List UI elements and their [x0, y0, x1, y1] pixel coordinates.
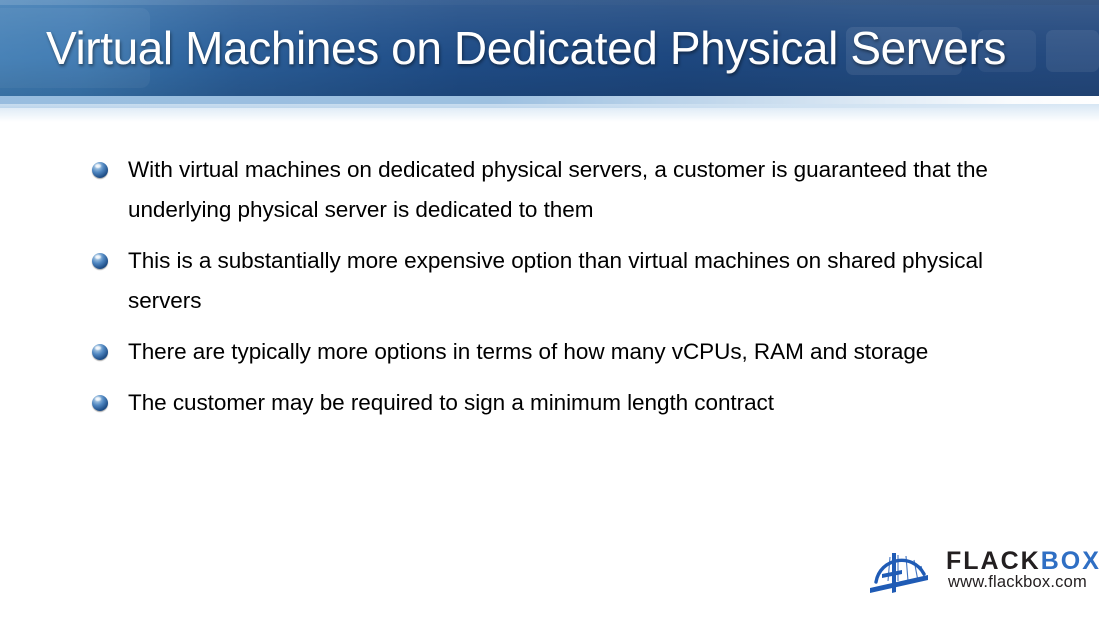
bullet-item: The customer may be required to sign a m… — [0, 383, 1099, 423]
bullet-item: With virtual machines on dedicated physi… — [0, 150, 1099, 230]
logo-url-text: www.flackbox.com — [948, 573, 1087, 592]
flackbox-logo: FLACKBOX www.flackbox.com — [868, 546, 1083, 598]
bridge-logo-icon — [868, 548, 940, 594]
logo-word-box: BOX — [1041, 547, 1099, 575]
slide-canvas: Virtual Machines on Dedicated Physical S… — [0, 0, 1099, 618]
bullet-text: This is a substantially more expensive o… — [128, 241, 1059, 321]
banner-top-strip — [0, 0, 1099, 5]
bullet-text: The customer may be required to sign a m… — [128, 383, 1059, 423]
bullet-orb-icon — [92, 344, 108, 360]
logo-word-flack: FLACK — [946, 547, 1041, 575]
slide-body: With virtual machines on dedicated physi… — [0, 150, 1099, 434]
title-banner: Virtual Machines on Dedicated Physical S… — [0, 0, 1099, 96]
slide-title: Virtual Machines on Dedicated Physical S… — [46, 13, 1066, 83]
banner-under-fade — [0, 104, 1099, 122]
bullet-text: With virtual machines on dedicated physi… — [128, 150, 1059, 230]
bullet-orb-icon — [92, 162, 108, 178]
bullet-orb-icon — [92, 253, 108, 269]
bullet-text: There are typically more options in term… — [128, 332, 1059, 372]
bullet-item: This is a substantially more expensive o… — [0, 241, 1099, 321]
bullet-orb-icon — [92, 395, 108, 411]
bullet-item: There are typically more options in term… — [0, 332, 1099, 372]
logo-wordmark: FLACKBOX — [946, 548, 1099, 574]
